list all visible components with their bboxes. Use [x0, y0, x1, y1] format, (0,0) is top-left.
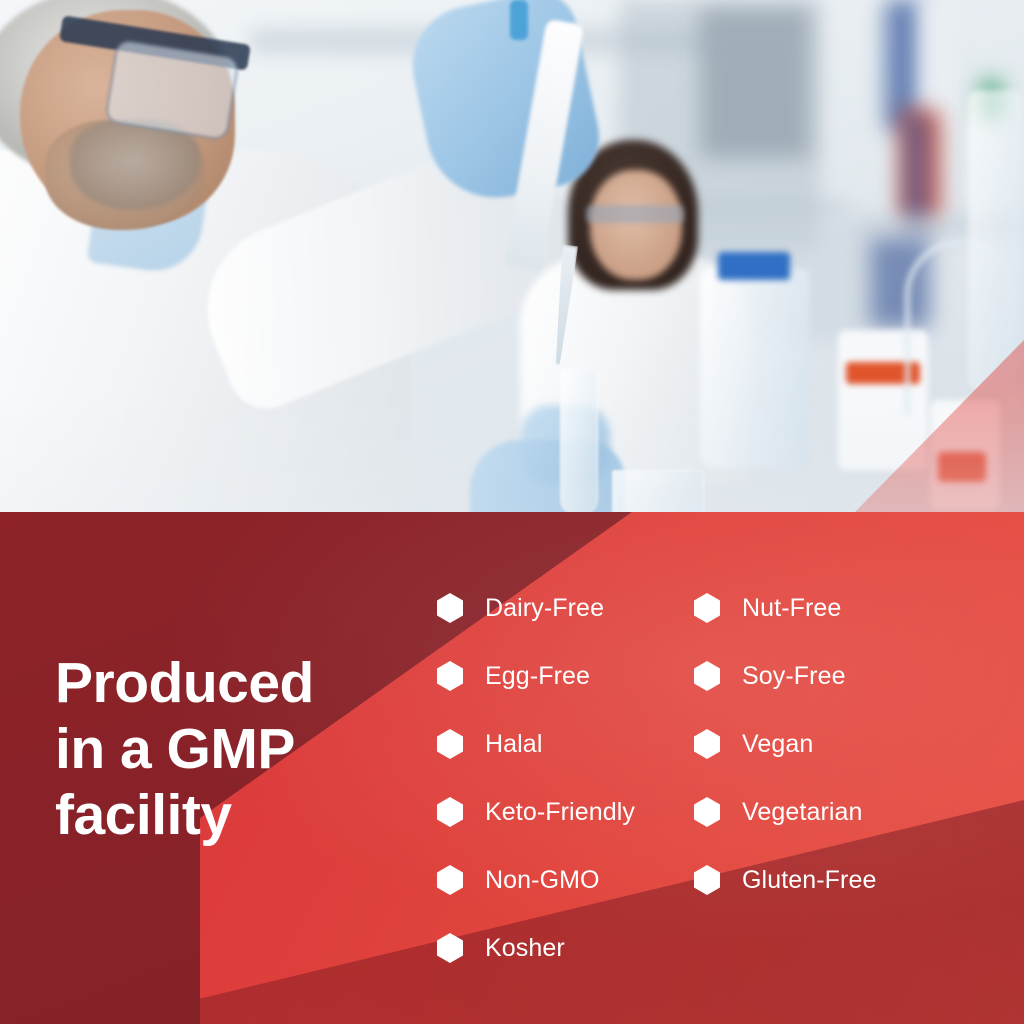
feature-label: Keto-Friendly: [485, 798, 635, 827]
feature-column-left: Dairy-Free Egg-Free Halal Keto-Friendly …: [437, 574, 694, 982]
hexagon-bullet-icon: [694, 661, 720, 691]
hexagon-bullet-icon: [437, 661, 463, 691]
feature-label: Halal: [485, 730, 542, 759]
photo-bottom-fade: [0, 0, 1024, 512]
hexagon-bullet-icon: [694, 797, 720, 827]
page-title: Produced in a GMP facility: [55, 650, 435, 848]
hexagon-bullet-icon: [694, 593, 720, 623]
lab-photo: [0, 0, 1024, 512]
feature-label: Vegetarian: [742, 798, 863, 827]
hexagon-bullet-icon: [437, 593, 463, 623]
feature-label: Vegan: [742, 730, 813, 759]
list-item: Vegetarian: [694, 778, 951, 846]
hexagon-bullet-icon: [437, 729, 463, 759]
promo-graphic: Produced in a GMP facility Dairy-Free Eg…: [0, 0, 1024, 1024]
feature-label: Egg-Free: [485, 662, 590, 691]
feature-label: Dairy-Free: [485, 594, 604, 623]
headline-line-3: facility: [55, 782, 435, 848]
list-item: Kosher: [437, 914, 694, 982]
headline-line-1: Produced: [55, 650, 435, 716]
list-item: Egg-Free: [437, 642, 694, 710]
hexagon-bullet-icon: [694, 865, 720, 895]
feature-list: Dairy-Free Egg-Free Halal Keto-Friendly …: [437, 574, 997, 982]
hexagon-bullet-icon: [437, 797, 463, 827]
list-item: Dairy-Free: [437, 574, 694, 642]
list-item: Keto-Friendly: [437, 778, 694, 846]
hexagon-bullet-icon: [694, 729, 720, 759]
list-item: Vegan: [694, 710, 951, 778]
hexagon-bullet-icon: [437, 865, 463, 895]
feature-label: Nut-Free: [742, 594, 841, 623]
headline-line-2: in a GMP: [55, 716, 435, 782]
feature-label: Gluten-Free: [742, 866, 877, 895]
list-item: Gluten-Free: [694, 846, 951, 914]
red-info-panel: Produced in a GMP facility Dairy-Free Eg…: [0, 512, 1024, 1024]
list-item: Nut-Free: [694, 574, 951, 642]
feature-label: Kosher: [485, 934, 565, 963]
list-item: Halal: [437, 710, 694, 778]
feature-label: Non-GMO: [485, 866, 600, 895]
hexagon-bullet-icon: [437, 933, 463, 963]
feature-column-right: Nut-Free Soy-Free Vegan Vegetarian Glute…: [694, 574, 951, 982]
list-item: Non-GMO: [437, 846, 694, 914]
feature-label: Soy-Free: [742, 662, 846, 691]
list-item: Soy-Free: [694, 642, 951, 710]
